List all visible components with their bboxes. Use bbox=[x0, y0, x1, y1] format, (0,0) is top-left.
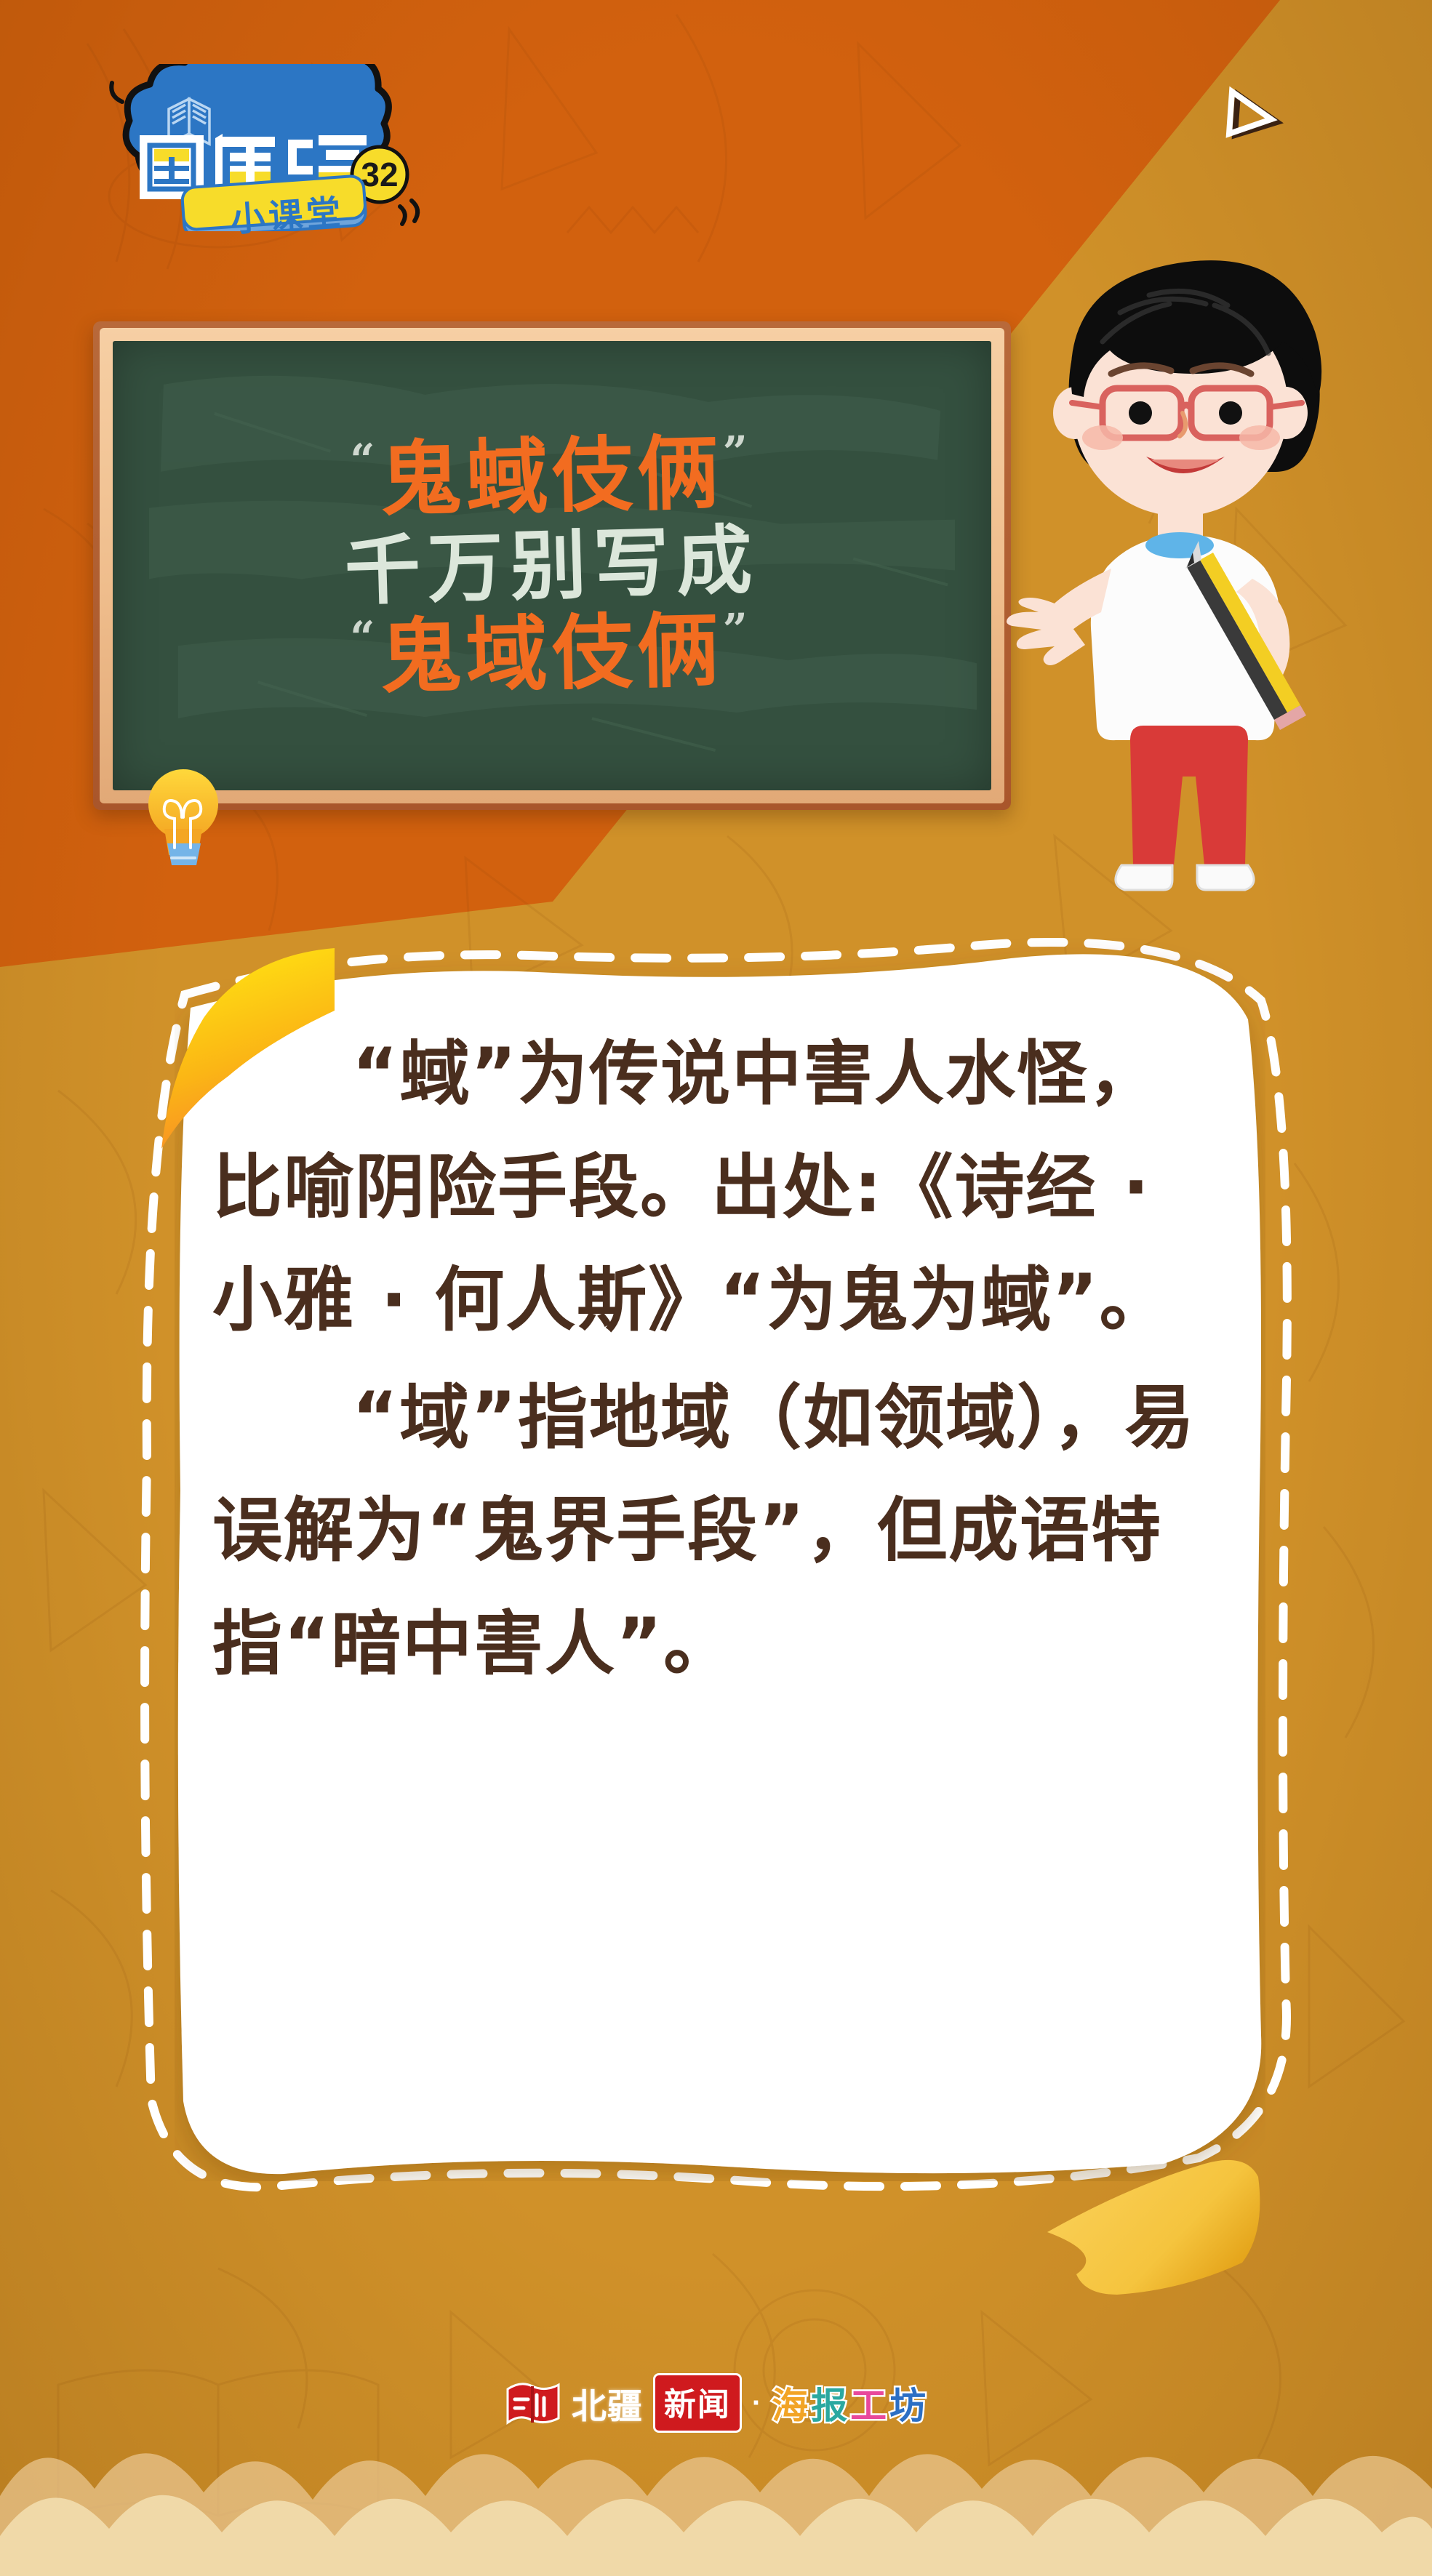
quote-open-3: “ bbox=[350, 616, 380, 660]
boy-student-illustration bbox=[996, 225, 1345, 923]
blackboard: “ 鬼蜮伎俩 ” 千万别写成 “ 鬼域伎俩 ” bbox=[93, 321, 1011, 810]
corner-ribbon-bottom-right bbox=[1047, 2145, 1265, 2298]
quote-close-3: ” bbox=[723, 608, 753, 652]
footer-workshop-name: 海 报 工 坊 bbox=[772, 2377, 927, 2429]
workshop-char-3: 工 bbox=[850, 2377, 888, 2429]
workshop-char-4: 坊 bbox=[889, 2377, 927, 2429]
poster-canvas: 32 小课堂 bbox=[0, 0, 1432, 2576]
quote-open-1: “ bbox=[350, 438, 380, 483]
footer-separator: · bbox=[752, 2387, 761, 2420]
play-triangle-icon bbox=[1216, 81, 1286, 151]
workshop-char-1: 海 bbox=[772, 2377, 809, 2429]
blackboard-line-2: 千万别写成 bbox=[344, 522, 761, 609]
blackboard-text-block: “ 鬼蜮伎俩 ” 千万别写成 “ 鬼域伎俩 ” bbox=[113, 341, 991, 790]
paragraph-2: “域”指地域（如领域），易误解为“鬼界手段”，但成语特指“暗中害人”。 bbox=[212, 1362, 1229, 1701]
blackboard-surface: “ 鬼蜮伎俩 ” 千万别写成 “ 鬼域伎俩 ” bbox=[113, 341, 991, 790]
content-card-text: “蜮”为传说中害人水怪，比喻阴险手段。出处:《诗经 · 小雅 · 何人斯》“为鬼… bbox=[212, 1018, 1229, 2138]
blackboard-line-wrong: “ 鬼域伎俩 ” bbox=[350, 609, 753, 699]
footer-news-badge: 新闻 bbox=[653, 2373, 742, 2433]
footer-branding[interactable]: 北疆 新闻 · 海 报 工 坊 bbox=[0, 2363, 1432, 2443]
red-flag-icon bbox=[505, 2379, 561, 2427]
blackboard-line-correct: “ 鬼蜮伎俩 ” bbox=[350, 432, 753, 522]
blackboard-line-3-text: 鬼域伎俩 bbox=[380, 610, 724, 699]
quote-close-1: ” bbox=[723, 430, 753, 475]
workshop-char-2: 报 bbox=[811, 2377, 849, 2429]
footer-brand-name: 北疆 bbox=[572, 2378, 643, 2428]
blackboard-line-1-text: 鬼蜮伎俩 bbox=[380, 433, 724, 521]
program-logo-badge[interactable]: 32 小课堂 bbox=[87, 64, 429, 231]
paragraph-1: “蜮”为传说中害人水怪，比喻阴险手段。出处:《诗经 · 小雅 · 何人斯》“为鬼… bbox=[212, 1018, 1229, 1357]
